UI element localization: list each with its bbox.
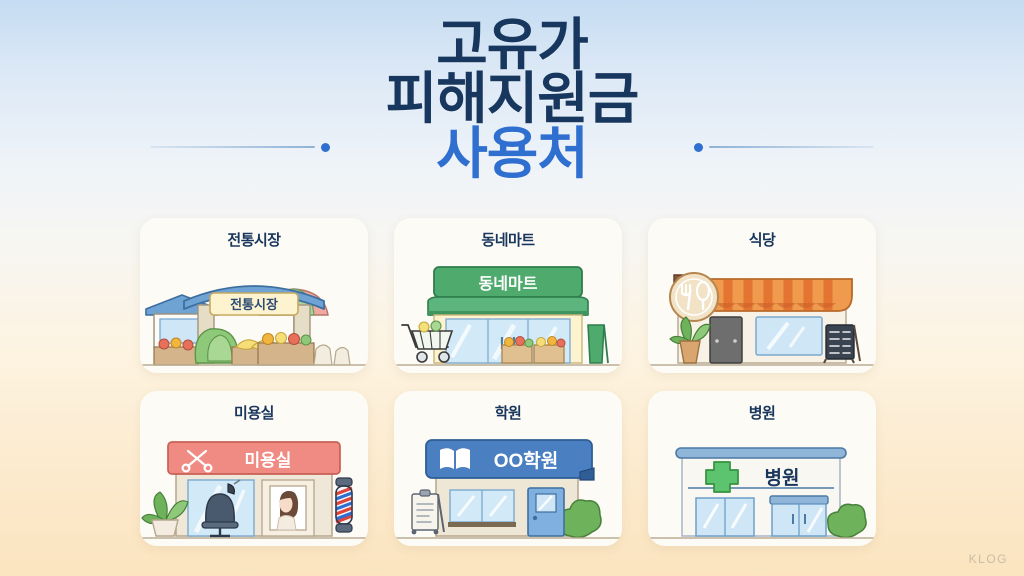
card-label: 식당 bbox=[648, 229, 876, 250]
open-book-icon: OO학원 bbox=[394, 428, 622, 546]
svg-text:OO학원: OO학원 bbox=[494, 450, 559, 472]
market-arch-icon: 전통시장 bbox=[140, 255, 368, 373]
svg-text:동네마트: 동네마트 bbox=[479, 275, 538, 293]
card-neighborhood-mart[interactable]: 동네마트 동네마트 bbox=[394, 218, 622, 373]
svg-text:병원: 병원 bbox=[765, 467, 800, 489]
green-cross-icon: 병원 bbox=[648, 428, 876, 546]
title-line-2: 피해지원금 bbox=[0, 72, 1024, 126]
card-hospital[interactable]: 병원 병원 bbox=[648, 391, 876, 546]
svg-text:미용실: 미용실 bbox=[245, 451, 292, 470]
card-restaurant[interactable]: 식당 bbox=[648, 218, 876, 373]
title-line-1: 고유가 bbox=[0, 18, 1024, 72]
card-traditional-market[interactable]: 전통시장 전통시장 bbox=[140, 218, 368, 373]
watermark: KLOG bbox=[969, 552, 1008, 566]
card-label: 동네마트 bbox=[394, 229, 622, 250]
card-label: 학원 bbox=[394, 402, 622, 423]
page-title: 고유가 피해지원금 사용처 bbox=[0, 18, 1024, 181]
card-label: 병원 bbox=[648, 402, 876, 423]
card-hair-salon[interactable]: 미용실 미용실 bbox=[140, 391, 368, 546]
card-academy[interactable]: 학원 OO학원 bbox=[394, 391, 622, 546]
svg-text:전통시장: 전통시장 bbox=[230, 297, 278, 312]
card-label: 전통시장 bbox=[140, 229, 368, 250]
title-line-3: 사용처 bbox=[0, 127, 1024, 181]
card-label: 미용실 bbox=[140, 402, 368, 423]
usage-location-grid: 전통시장 전통시장 bbox=[140, 218, 876, 546]
storefront-icon: 동네마트 bbox=[394, 255, 622, 373]
fork-spoon-icon bbox=[648, 255, 876, 373]
scissors-icon: 미용실 bbox=[140, 428, 368, 546]
